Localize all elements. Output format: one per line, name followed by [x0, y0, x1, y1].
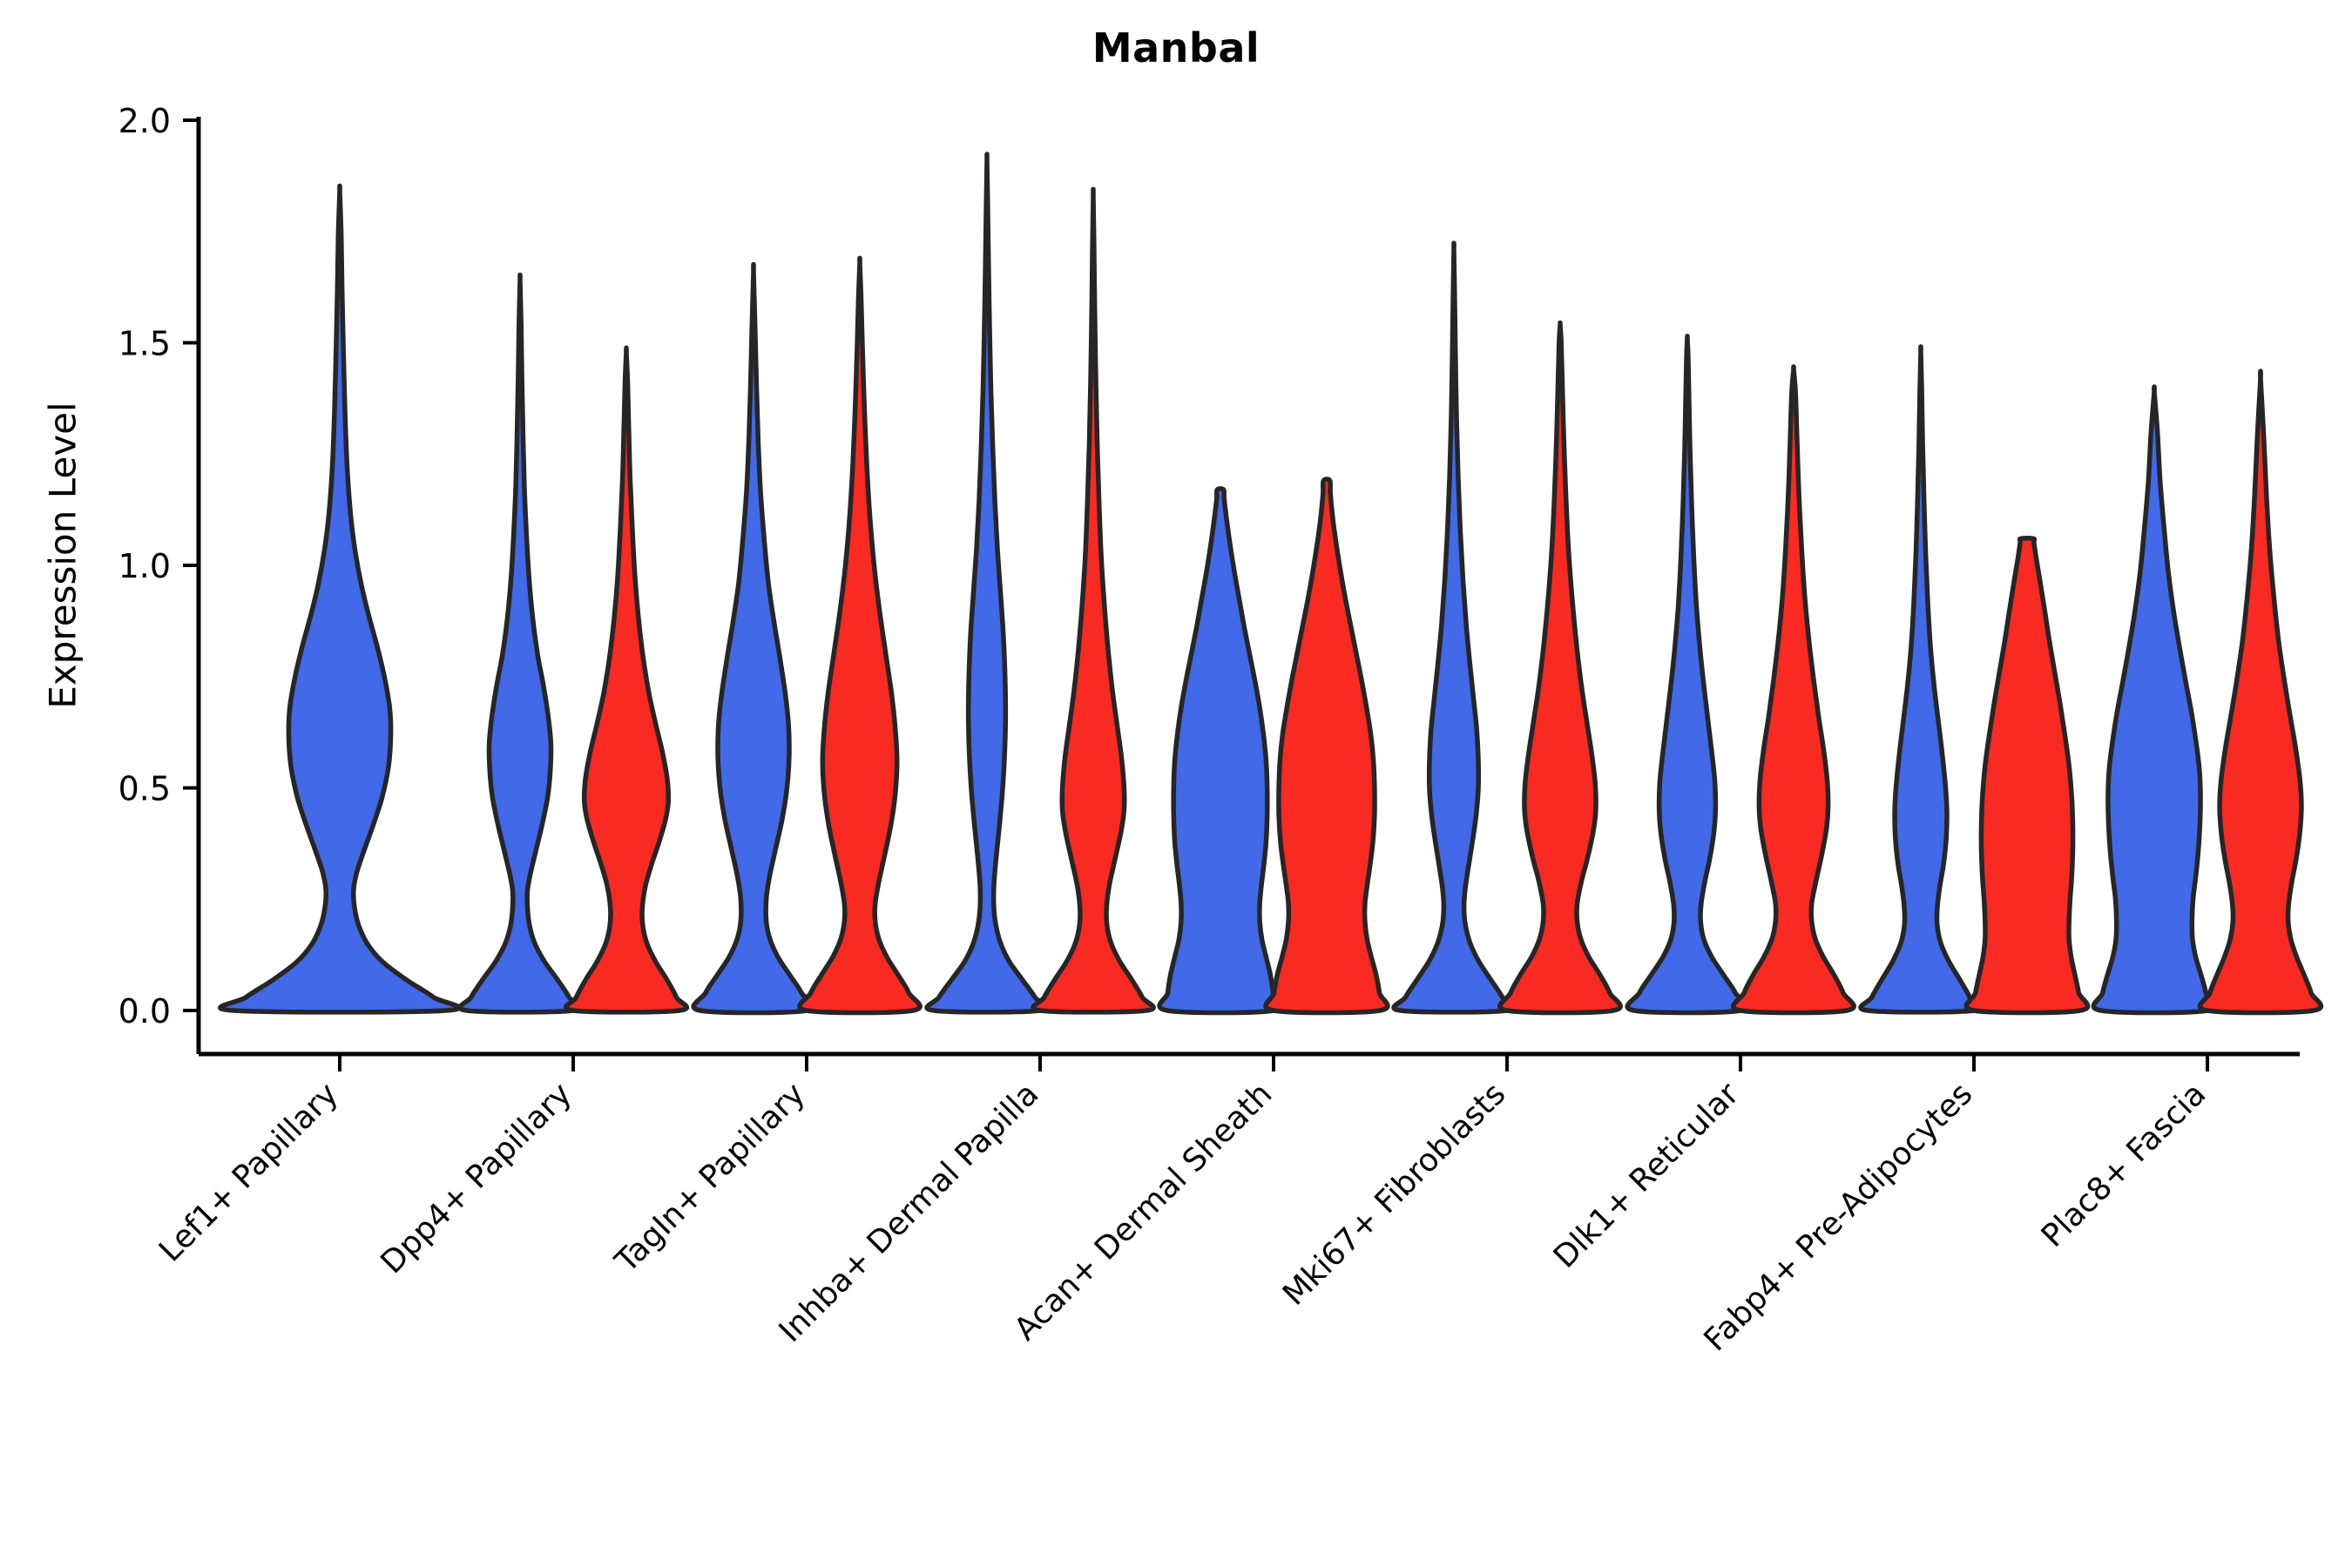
x-tick-label-2[interactable]: TagIn+ Papillary [608, 1076, 812, 1280]
chart-canvas: 0.00.51.01.52.0 Lef1+ PapillaryDpp4+ Pap… [0, 0, 2352, 1568]
violin-lef1-blue[interactable] [220, 186, 459, 1012]
x-tick-label-7[interactable]: Fabp4+ Pre-Adipocytes [1698, 1076, 1980, 1358]
violin-plot-figure: Manbal Expression Level 0.00.51.01.52.0 … [0, 0, 2352, 1568]
violin-dlk1-blue[interactable] [1627, 336, 1747, 1013]
x-tick-label-4[interactable]: Acan+ Dermal Sheath [1008, 1076, 1280, 1348]
x-tick-label-8[interactable]: Plac8+ Fascia [2035, 1076, 2213, 1254]
y-tick-label: 1.5 [118, 325, 171, 363]
y-tick-label: 2.0 [118, 102, 171, 140]
y-tick-label: 0.0 [118, 992, 171, 1031]
violin-dlk1-red[interactable] [1734, 367, 1854, 1013]
violins-layer [220, 154, 2322, 1013]
x-tick-labels: Lef1+ PapillaryDpp4+ PapillaryTagIn+ Pap… [152, 1076, 2213, 1358]
y-tick-labels: 0.00.51.01.52.0 [118, 102, 171, 1031]
violin-dpp4-blue[interactable] [460, 275, 580, 1012]
violin-acan-blue[interactable] [1159, 489, 1281, 1013]
violin-fabp4-blue[interactable] [1861, 347, 1981, 1012]
violin-dpp4-red[interactable] [566, 348, 687, 1012]
violin-mki67-red[interactable] [1500, 323, 1620, 1013]
violin-tagln-blue[interactable] [693, 264, 814, 1012]
violin-plac8-blue[interactable] [2093, 387, 2214, 1013]
x-tick-label-6[interactable]: Dlk1+ Reticular [1547, 1076, 1747, 1275]
y-tick-label: 0.5 [118, 770, 171, 808]
violin-tagln-red[interactable] [800, 258, 920, 1012]
x-tick-label-1[interactable]: Dpp4+ Papillary [375, 1076, 579, 1281]
violin-acan-red[interactable] [1266, 479, 1388, 1013]
violin-inhba-red[interactable] [1033, 189, 1153, 1012]
y-tick-label: 1.0 [118, 547, 171, 585]
violin-mki67-blue[interactable] [1394, 243, 1514, 1012]
x-tick-label-5[interactable]: Mki67+ Fibroblasts [1276, 1076, 1512, 1312]
violin-plac8-red[interactable] [2200, 371, 2322, 1012]
violin-fabp4-red[interactable] [1966, 538, 2087, 1013]
violin-inhba-blue[interactable] [927, 154, 1047, 1012]
x-tick-label-0[interactable]: Lef1+ Papillary [152, 1076, 345, 1268]
x-tick-label-3[interactable]: Inhba+ Dermal Papilla [773, 1076, 1046, 1349]
